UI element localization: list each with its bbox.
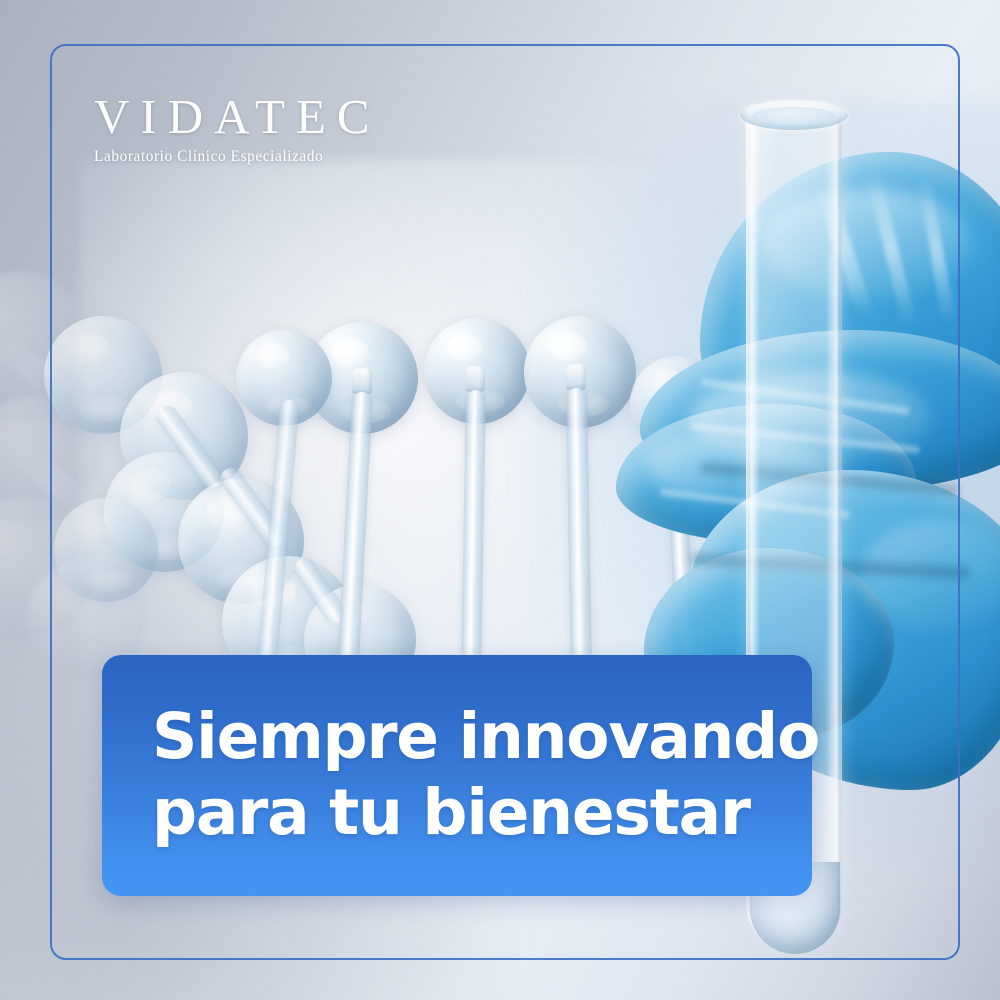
poster-canvas: VIDATEC Laboratorio Clínico Especializad… bbox=[0, 0, 1000, 1000]
headline-text: Siempre innovando para tu bienestar bbox=[152, 699, 792, 851]
headline-line-2: para tu bienestar bbox=[152, 775, 792, 851]
headline-line-1: Siempre innovando bbox=[152, 699, 792, 775]
headline-banner: Siempre innovando para tu bienestar bbox=[102, 655, 812, 896]
logo-tagline: Laboratorio Clínico Especializado bbox=[94, 148, 514, 166]
test-tube-right-edge-highlight bbox=[826, 118, 838, 918]
brand-logo: VIDATEC Laboratorio Clínico Especializad… bbox=[94, 92, 514, 166]
logo-wordmark: VIDATEC bbox=[94, 92, 514, 141]
test-tube-rim-inner bbox=[752, 107, 836, 125]
